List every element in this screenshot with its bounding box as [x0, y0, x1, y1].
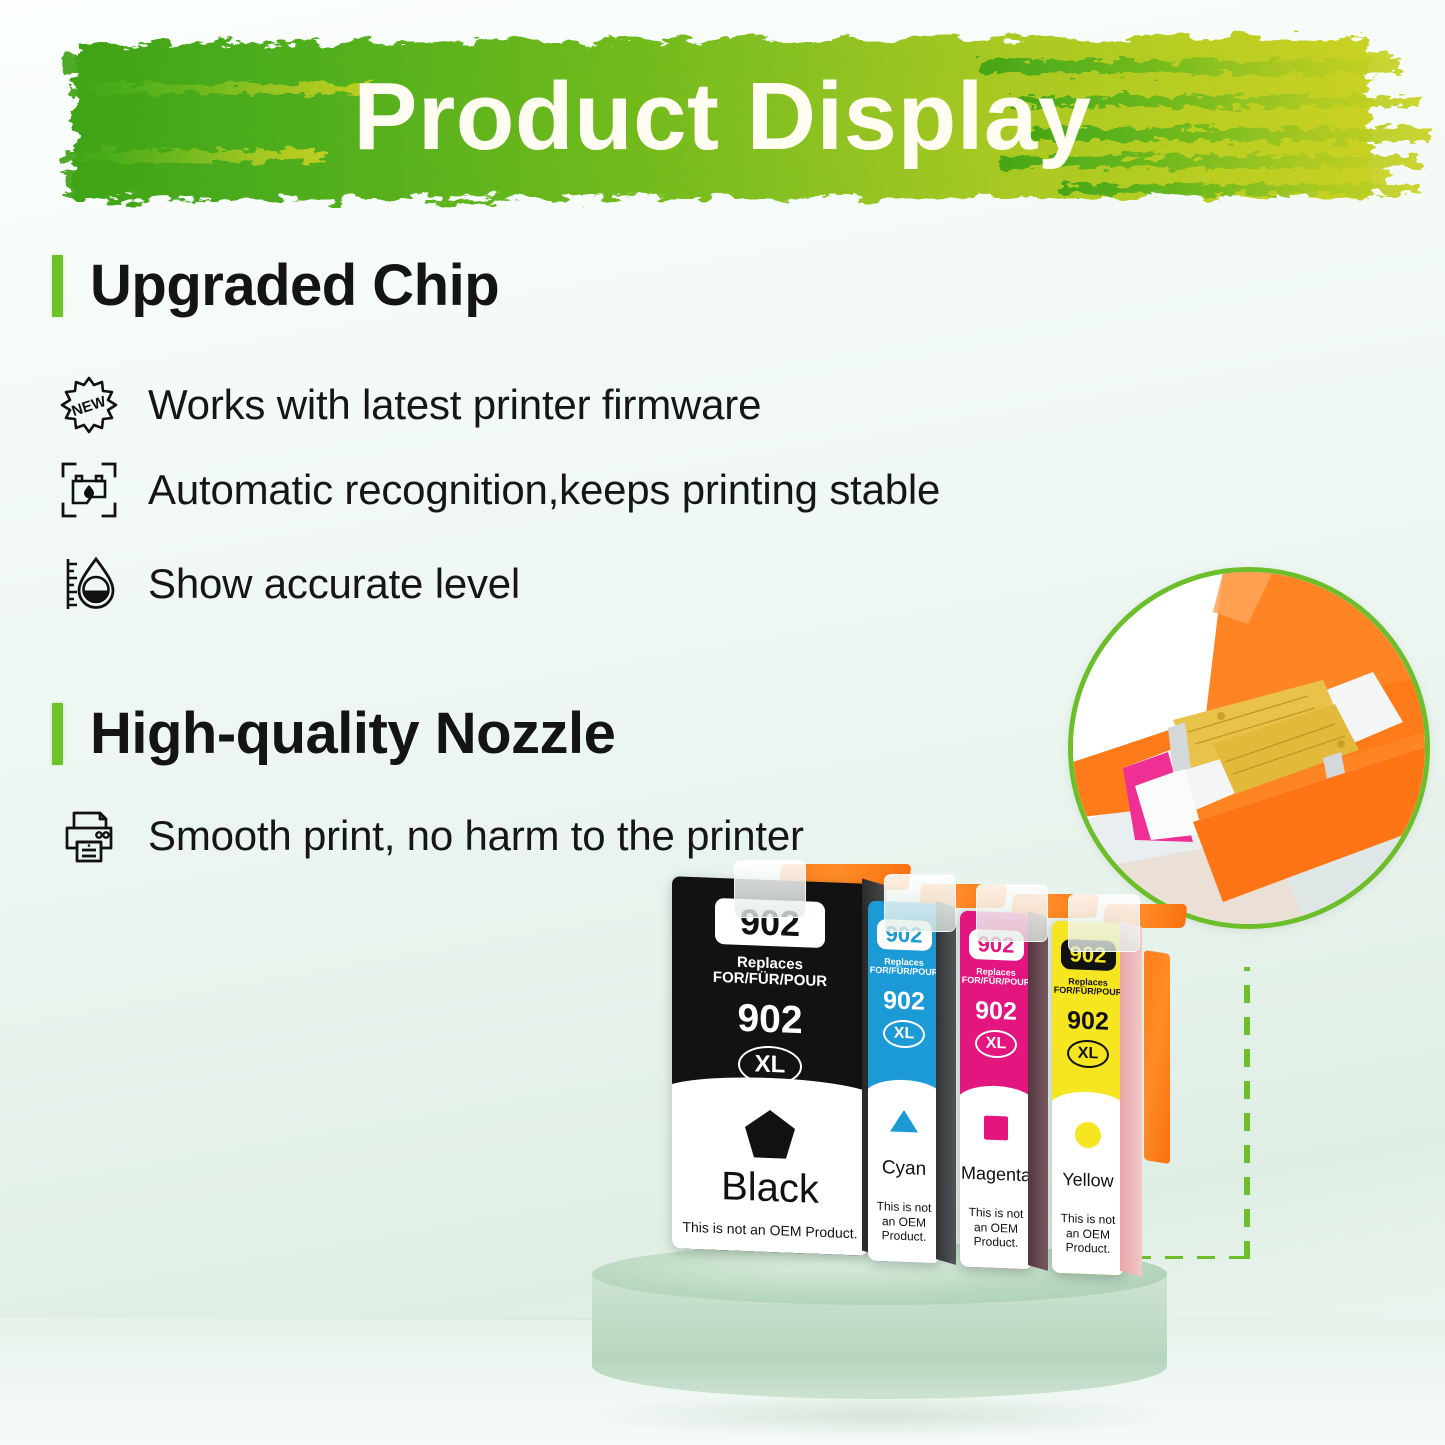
- cartridge-group: 902 Replaces FOR/FÜR/POUR 902 XL Black: [600, 862, 1170, 1332]
- model-large: 902: [737, 996, 802, 1043]
- color-name: Cyan: [868, 1157, 940, 1182]
- feature-text: Smooth print, no harm to the printer: [148, 812, 804, 860]
- replaces-line-2: FOR/FÜR/POUR: [962, 976, 1031, 988]
- feature-row-accurate-level: Show accurate level: [56, 551, 520, 617]
- cartridge-clip: [1068, 894, 1140, 952]
- cartridge-label: 902 Replaces FOR/FÜR/POUR 902 XL Yello: [1052, 921, 1124, 1276]
- cartridge-body: 902 Replaces FOR/FÜR/POUR 902 XL Black: [672, 876, 868, 1256]
- replaces-line-2: FOR/FÜR/POUR: [1054, 986, 1123, 998]
- feature-text: Automatic recognition,keeps printing sta…: [148, 466, 940, 514]
- feature-row-firmware: NEW Works with latest printer firmware: [56, 372, 761, 438]
- size-badge: XL: [975, 1029, 1017, 1059]
- cartridge-clip: [976, 884, 1048, 942]
- new-badge-icon: NEW: [56, 372, 122, 438]
- ink-level-gauge-icon: [56, 551, 122, 617]
- cartridge-white-panel: Yellow This is not an OEM Product.: [1052, 1107, 1124, 1276]
- cartridge-body: 902 Replaces FOR/FÜR/POUR 902 XL Magen: [960, 911, 1032, 1270]
- feature-text: Works with latest printer firmware: [148, 381, 761, 429]
- section-heading-upgraded-chip: Upgraded Chip: [52, 252, 499, 319]
- replaces-line-2: FOR/FÜR/POUR: [870, 966, 939, 978]
- model-large: 902: [1067, 1006, 1109, 1037]
- cartridge-label: 902 Replaces FOR/FÜR/POUR 902 XL Magen: [960, 911, 1032, 1270]
- cartridge-white-panel: Cyan This is not an OEM Product.: [868, 1095, 940, 1264]
- feature-text: Show accurate level: [148, 560, 520, 608]
- cartridge-side: [1120, 921, 1142, 1277]
- cartridge-cap-side: [1144, 950, 1170, 1164]
- pedestal-shadow: [588, 1393, 1173, 1439]
- cartridge-scan-icon: [56, 457, 122, 523]
- printer-icon: [56, 803, 122, 869]
- product-display-page: Product Display Upgraded Chip NEW Works …: [0, 0, 1445, 1445]
- cartridge-side: [936, 901, 956, 1265]
- model-large: 902: [883, 986, 925, 1017]
- heading-text: High-quality Nozzle: [90, 700, 615, 767]
- cartridge-white-panel: Black This is not an OEM Product.: [672, 1090, 868, 1256]
- heading-accent-bar: [52, 703, 63, 765]
- cartridge-body: 902 Replaces FOR/FÜR/POUR 902 XL Yello: [1052, 921, 1124, 1276]
- color-name: Magenta: [960, 1163, 1032, 1187]
- header-brush-banner: Product Display: [0, 0, 1445, 232]
- cartridge-clip: [734, 860, 806, 918]
- heading-text: Upgraded Chip: [90, 252, 499, 319]
- section-heading-high-quality-nozzle: High-quality Nozzle: [52, 700, 615, 767]
- replaces-line-2: FOR/FÜR/POUR: [713, 970, 827, 990]
- oem-note: This is not an OEM Product.: [672, 1218, 868, 1243]
- oem-note: This is not an OEM Product.: [1052, 1211, 1124, 1258]
- oem-note: This is not an OEM Product.: [868, 1199, 940, 1246]
- page-title: Product Display: [0, 62, 1445, 172]
- feature-row-auto-recognition: Automatic recognition,keeps printing sta…: [56, 457, 940, 523]
- color-name: Black: [672, 1162, 868, 1215]
- model-large: 902: [975, 996, 1017, 1027]
- heading-accent-bar: [52, 255, 63, 317]
- svg-text:NEW: NEW: [70, 393, 109, 420]
- cartridge-side: [1028, 911, 1048, 1271]
- cartridge-body: 902 Replaces FOR/FÜR/POUR 902 XL Cyan: [868, 901, 940, 1264]
- size-badge: XL: [883, 1019, 925, 1049]
- color-name: Yellow: [1052, 1169, 1124, 1193]
- oem-note: This is not an OEM Product.: [960, 1205, 1032, 1252]
- size-badge: XL: [1067, 1039, 1109, 1069]
- cartridge-clip: [884, 874, 956, 932]
- cartridge-label: 902 Replaces FOR/FÜR/POUR 902 XL Cyan: [868, 901, 940, 1264]
- feature-row-smooth-print: Smooth print, no harm to the printer: [56, 803, 804, 869]
- cartridge-white-panel: Magenta This is not an OEM Product.: [960, 1101, 1032, 1270]
- cartridge-label: 902 Replaces FOR/FÜR/POUR 902 XL Black: [672, 876, 868, 1256]
